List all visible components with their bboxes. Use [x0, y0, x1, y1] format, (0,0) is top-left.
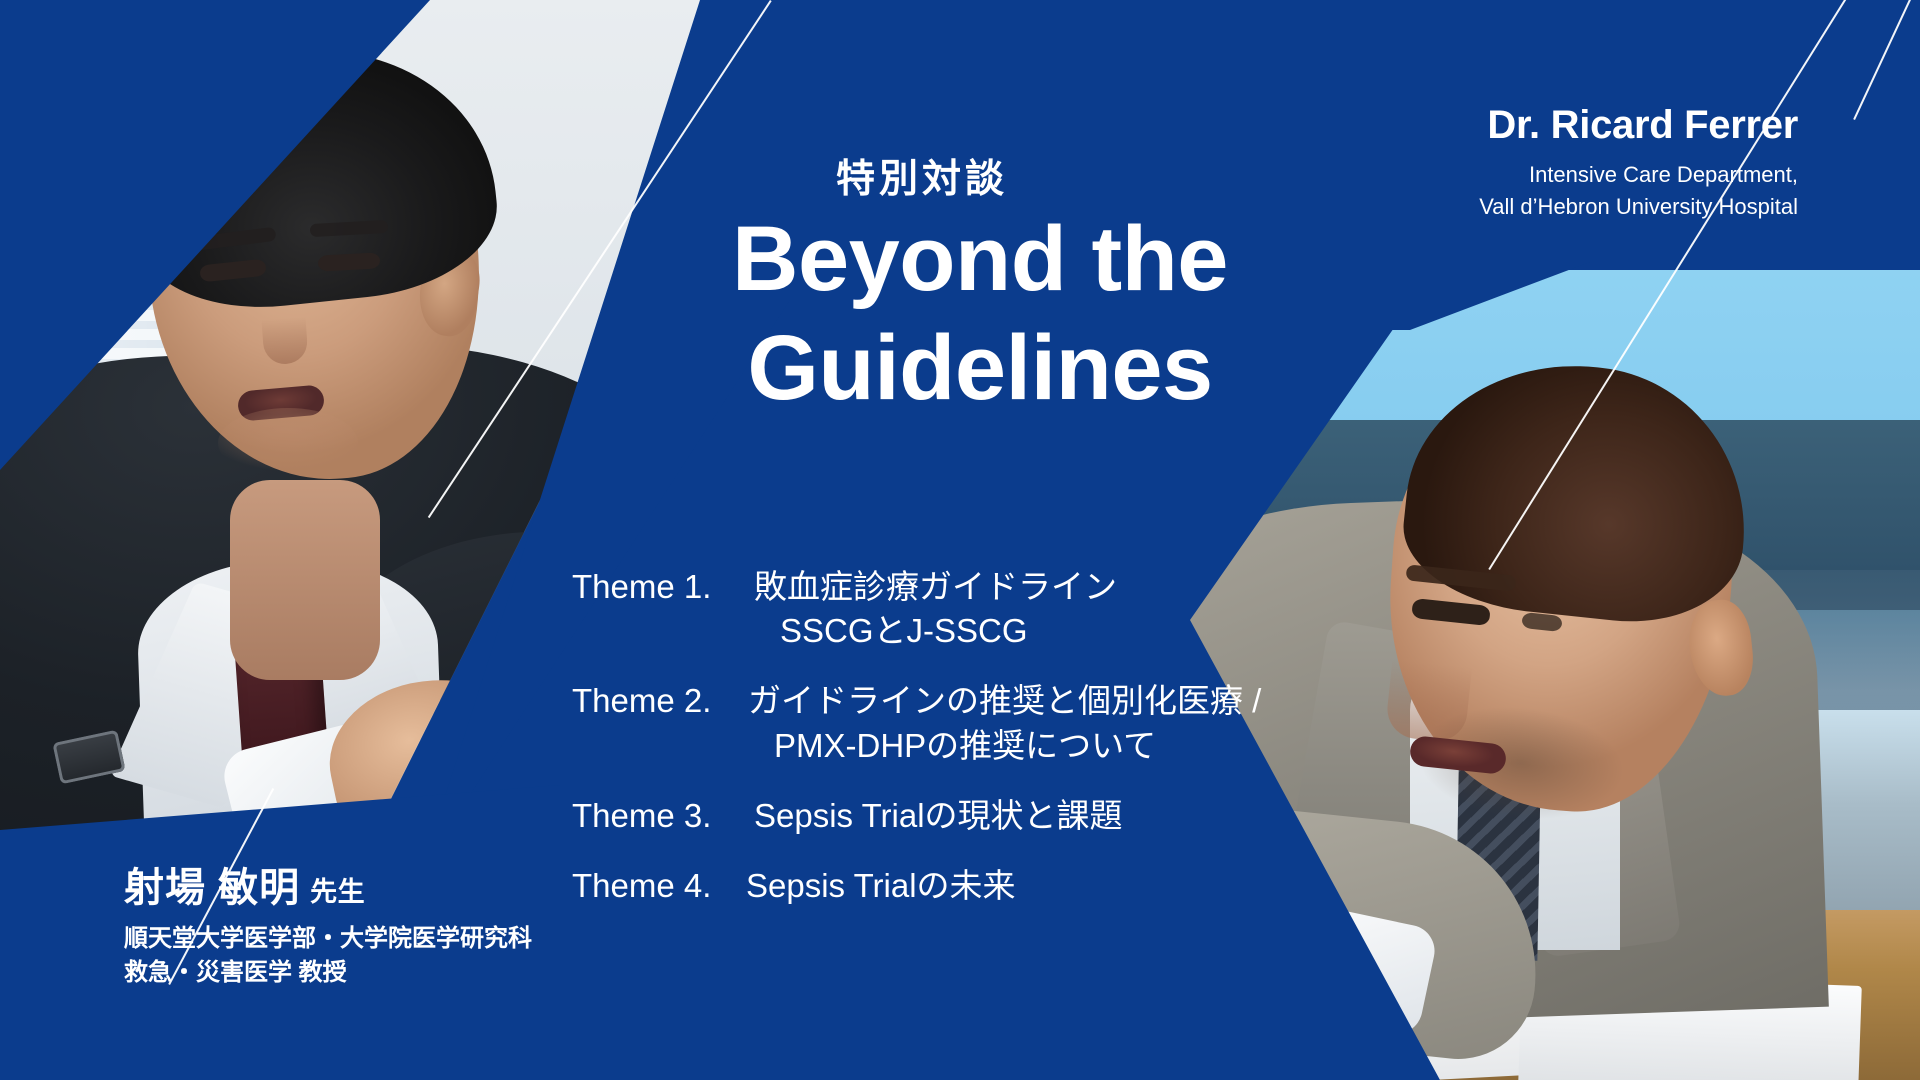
theme-text-main: 敗血症診療ガイドライン: [754, 568, 1117, 605]
theme-label: Theme 4.: [572, 864, 746, 908]
theme-label: Theme 3.: [572, 794, 754, 838]
theme-list: Theme 1. 敗血症診療ガイドライン SSCGとJ-SSCG Theme 2…: [572, 565, 1261, 908]
page-title-line2: Guidelines: [650, 314, 1310, 423]
theme-text: 敗血症診療ガイドライン SSCGとJ-SSCG: [754, 565, 1117, 653]
theme-text-main: Sepsis Trialの現状と課題: [754, 797, 1123, 834]
theme-text-main: ガイドラインの推奨と個別化医療 /: [748, 682, 1261, 719]
left-speaker-nose: [259, 287, 308, 366]
left-speaker-name-row: 射場 敏明先生: [124, 866, 532, 910]
page-title: Beyond the Guidelines: [650, 205, 1310, 422]
theme-item: Theme 2. ガイドラインの推奨と個別化医療 / PMX-DHPの推奨につい…: [572, 679, 1261, 767]
title-slide: 特別対談 Beyond the Guidelines Dr. Ricard Fe…: [0, 0, 1920, 1080]
right-speaker-name: Dr. Ricard Ferrer: [1479, 103, 1798, 147]
theme-text: Sepsis Trialの現状と課題: [754, 794, 1123, 838]
theme-text-sub: SSCGとJ-SSCG: [780, 609, 1117, 653]
left-speaker-eye-right: [318, 252, 381, 271]
left-speaker-name: 射場 敏明: [124, 866, 300, 910]
right-speaker-affiliation-line1: Intensive Care Department,: [1479, 159, 1798, 191]
theme-label: Theme 2.: [572, 679, 748, 723]
left-speaker-honorific: 先生: [310, 877, 365, 907]
right-speaker-credit: Dr. Ricard Ferrer Intensive Care Departm…: [1479, 103, 1798, 223]
left-speaker-affiliation: 順天堂大学医学部・大学院医学研究科 救急・災害医学 教授: [124, 922, 532, 990]
kicker-label: 特別対談: [836, 148, 1008, 204]
theme-item: Theme 4. Sepsis Trialの未来: [572, 864, 1261, 908]
theme-text: Sepsis Trialの未来: [746, 864, 1016, 908]
page-title-line1: Beyond the: [732, 208, 1228, 310]
left-speaker-affiliation-line2: 救急・災害医学 教授: [124, 956, 532, 990]
theme-text-main: Sepsis Trialの未来: [746, 867, 1016, 904]
left-speaker-affiliation-line1: 順天堂大学医学部・大学院医学研究科: [124, 922, 532, 956]
theme-item: Theme 3. Sepsis Trialの現状と課題: [572, 794, 1261, 838]
left-speaker-neck: [230, 480, 380, 680]
theme-text-sub: PMX-DHPの推奨について: [774, 724, 1261, 768]
theme-item: Theme 1. 敗血症診療ガイドライン SSCGとJ-SSCG: [572, 565, 1261, 653]
left-speaker-credit: 射場 敏明先生 順天堂大学医学部・大学院医学研究科 救急・災害医学 教授: [124, 866, 532, 990]
theme-label: Theme 1.: [572, 565, 754, 609]
theme-text: ガイドラインの推奨と個別化医療 / PMX-DHPの推奨について: [748, 679, 1261, 767]
right-speaker-affiliation-line2: Vall d’Hebron University Hospital: [1479, 191, 1798, 223]
left-speaker-chin: [218, 408, 358, 478]
right-speaker-affiliation: Intensive Care Department, Vall d’Hebron…: [1479, 159, 1798, 223]
